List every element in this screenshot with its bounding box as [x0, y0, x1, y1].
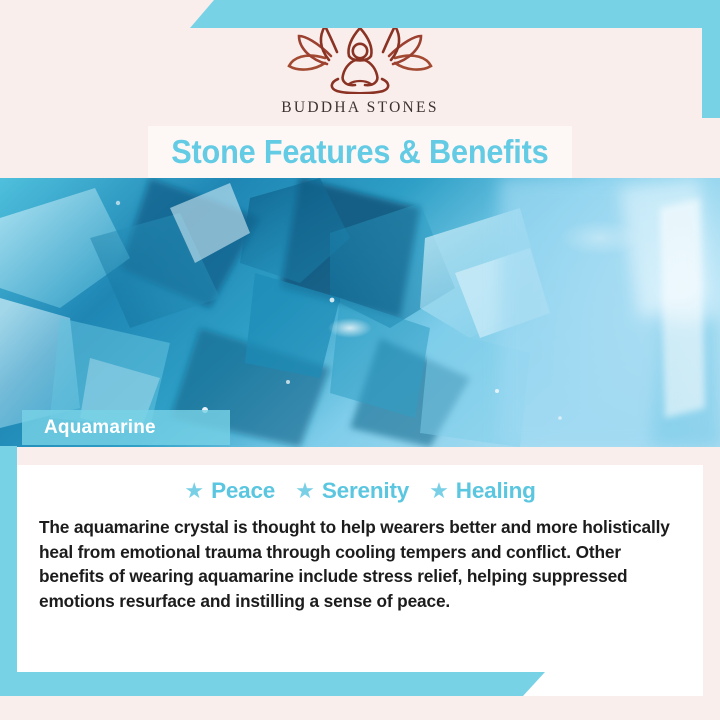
keyword-item-healing: ★ Healing [429, 478, 536, 504]
keyword-item-peace: ★ Peace [184, 478, 275, 504]
decorative-frame-right [702, 0, 720, 118]
keyword-list: ★ Peace ★ Serenity ★ Healing [39, 471, 681, 511]
star-icon: ★ [184, 480, 204, 502]
decorative-frame-bottom [0, 672, 545, 696]
lotus-meditation-icon [275, 22, 445, 94]
page-title: Stone Features & Benefits [171, 133, 548, 171]
stone-name-badge: Aquamarine [22, 410, 230, 445]
keyword-item-serenity: ★ Serenity [295, 478, 409, 504]
hero-image: Aquamarine [0, 178, 720, 447]
keyword-label: Healing [456, 478, 536, 504]
stone-name-label: Aquamarine [22, 417, 156, 439]
keyword-label: Serenity [322, 478, 409, 504]
divider-band [17, 447, 703, 465]
decorative-frame-left [0, 446, 17, 696]
aquamarine-crystal-photo [0, 178, 720, 447]
brand-logo: BUDDHA STONES [0, 22, 720, 117]
star-icon: ★ [429, 480, 449, 502]
keyword-label: Peace [211, 478, 275, 504]
decorative-frame-top-right [190, 0, 720, 28]
brand-wordmark: BUDDHA STONES [281, 99, 439, 117]
title-band: Stone Features & Benefits [148, 126, 572, 178]
content-panel: ★ Peace ★ Serenity ★ Healing The aquamar… [17, 465, 703, 696]
stone-description: The aquamarine crystal is thought to hel… [39, 515, 681, 614]
star-icon: ★ [295, 480, 315, 502]
